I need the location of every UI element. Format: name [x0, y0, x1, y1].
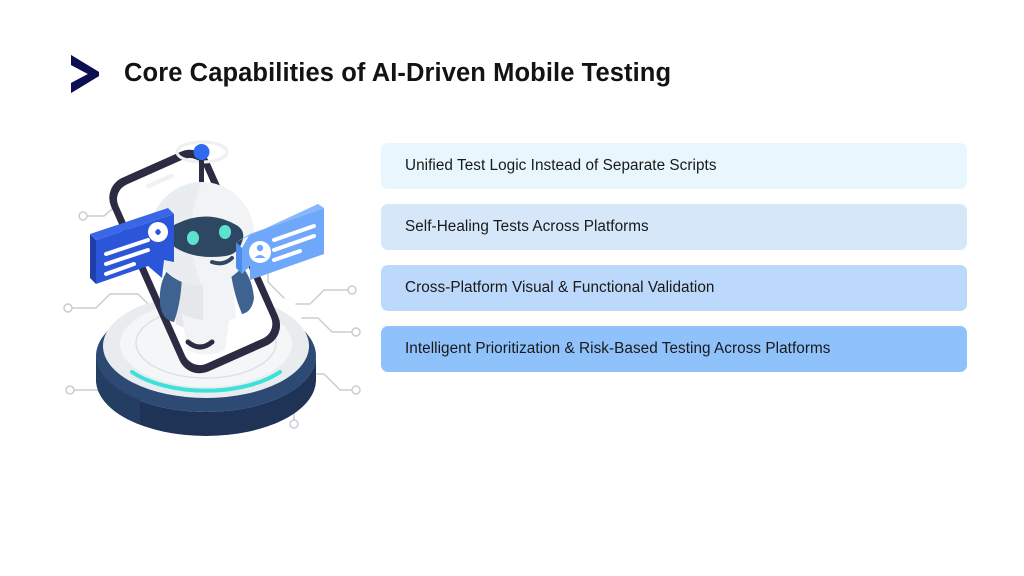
- page-title: Core Capabilities of AI-Driven Mobile Te…: [124, 61, 671, 87]
- capability-label: Cross-Platform Visual & Functional Valid…: [405, 280, 714, 295]
- slide-header: Core Capabilities of AI-Driven Mobile Te…: [68, 52, 671, 96]
- list-item[interactable]: Self-Healing Tests Across Platforms: [381, 204, 967, 250]
- capability-label: Intelligent Prioritization & Risk-Based …: [405, 341, 830, 356]
- list-item[interactable]: Cross-Platform Visual & Functional Valid…: [381, 265, 967, 311]
- capability-list: Unified Test Logic Instead of Separate S…: [381, 143, 967, 372]
- list-item[interactable]: Unified Test Logic Instead of Separate S…: [381, 143, 967, 189]
- slide-canvas: Core Capabilities of AI-Driven Mobile Te…: [0, 0, 1024, 576]
- ai-chatbot-illustration: [52, 128, 368, 440]
- capability-label: Self-Healing Tests Across Platforms: [405, 219, 649, 234]
- list-item[interactable]: Intelligent Prioritization & Risk-Based …: [381, 326, 967, 372]
- capability-label: Unified Test Logic Instead of Separate S…: [405, 158, 717, 173]
- chevron-right-icon: [68, 52, 102, 96]
